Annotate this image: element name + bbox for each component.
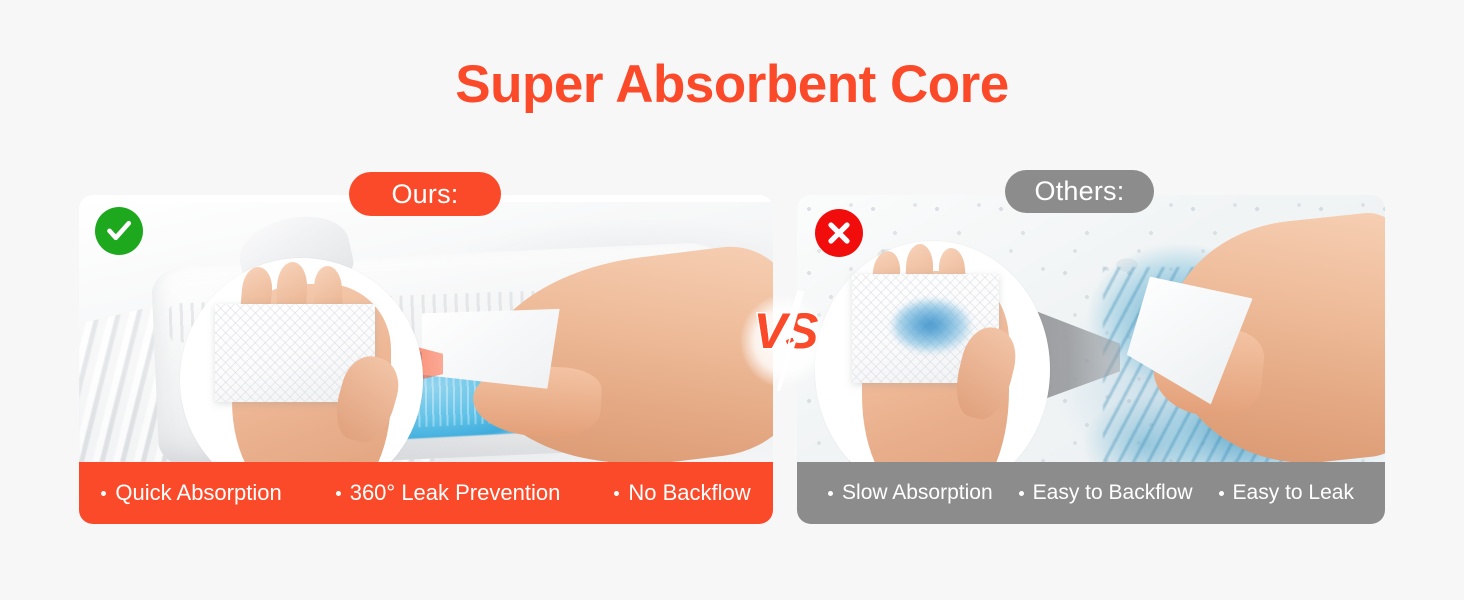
feature-item: Easy to Backflow bbox=[1019, 481, 1193, 505]
label-pill-ours: Ours: bbox=[349, 172, 501, 216]
bullet-dot-icon bbox=[101, 491, 106, 496]
vs-label: VS bbox=[737, 306, 833, 356]
feature-item: No Backflow bbox=[614, 480, 750, 506]
feature-label: Easy to Backflow bbox=[1033, 481, 1193, 505]
vs-badge: VS VS bbox=[737, 292, 833, 390]
feature-bar-ours: Quick Absorption 360° Leak Prevention No… bbox=[79, 462, 773, 524]
feature-label: 360° Leak Prevention bbox=[350, 480, 561, 506]
check-circle-icon bbox=[95, 207, 143, 255]
feature-item: Slow Absorption bbox=[828, 481, 993, 505]
page-title: Super Absorbent Core bbox=[0, 57, 1464, 113]
label-pill-others: Others: bbox=[1005, 170, 1154, 213]
promo-banner: Super Absorbent Core bbox=[0, 0, 1464, 600]
feature-bar-others: Slow Absorption Easy to Backflow Easy to… bbox=[797, 462, 1385, 524]
bullet-dot-icon bbox=[1019, 491, 1024, 496]
feature-label: Quick Absorption bbox=[115, 480, 281, 506]
bullet-dot-icon bbox=[336, 491, 341, 496]
feature-label: Slow Absorption bbox=[842, 481, 993, 505]
feature-item: Easy to Leak bbox=[1219, 481, 1354, 505]
pill-label: Ours: bbox=[391, 179, 458, 210]
bullet-dot-icon bbox=[828, 491, 833, 496]
feature-label: No Backflow bbox=[628, 480, 750, 506]
bullet-dot-icon bbox=[614, 491, 619, 496]
comparison-card-ours: Quick Absorption 360° Leak Prevention No… bbox=[79, 195, 773, 524]
feature-item: 360° Leak Prevention bbox=[336, 480, 561, 506]
feature-label: Easy to Leak bbox=[1233, 481, 1354, 505]
bullet-dot-icon bbox=[1219, 491, 1224, 496]
pill-label: Others: bbox=[1035, 176, 1125, 207]
backflow-stain bbox=[893, 300, 969, 352]
feature-item: Quick Absorption bbox=[101, 480, 281, 506]
x-circle-icon bbox=[815, 209, 863, 257]
comparison-card-others: Slow Absorption Easy to Backflow Easy to… bbox=[797, 195, 1385, 524]
